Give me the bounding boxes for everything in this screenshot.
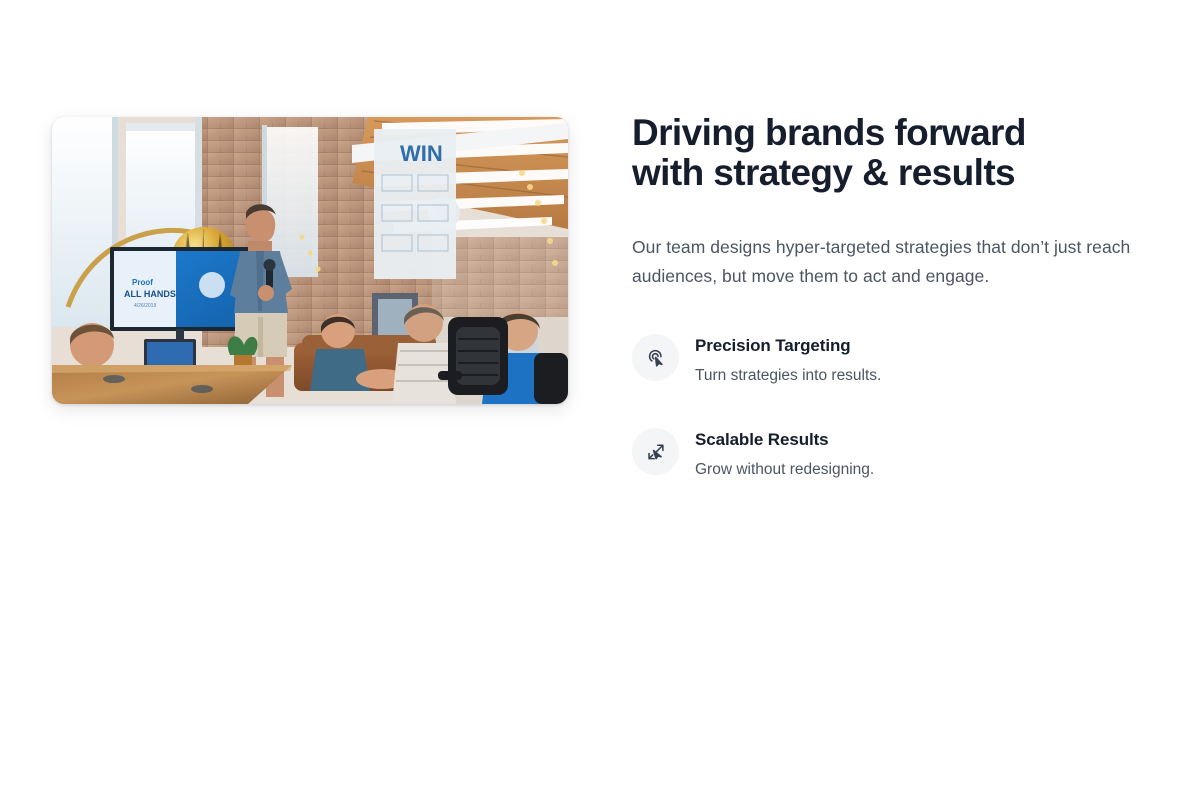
svg-text:WIN: WIN xyxy=(400,141,443,166)
media-column: WIN xyxy=(52,117,568,404)
section-subcopy: Our team designs hyper-targeted strategi… xyxy=(632,233,1148,291)
feature-description: Turn strategies into results. xyxy=(695,365,881,386)
feature-title: Scalable Results xyxy=(695,429,874,451)
svg-text:ALL HANDS: ALL HANDS xyxy=(124,289,176,299)
feature-section: WIN xyxy=(0,0,1200,800)
feature-item-precision-targeting: Precision Targeting Turn strategies into… xyxy=(632,333,1152,386)
feature-title: Precision Targeting xyxy=(695,335,881,357)
feature-description: Grow without redesigning. xyxy=(695,459,874,480)
feature-list: Precision Targeting Turn strategies into… xyxy=(632,333,1152,480)
svg-text:Proof: Proof xyxy=(132,278,153,287)
feature-body: Precision Targeting Turn strategies into… xyxy=(695,333,881,386)
headline-line-1: Driving brands forward xyxy=(632,113,1132,153)
headline-line-2: with strategy & results xyxy=(632,153,1132,193)
section-headline: Driving brands forward with strategy & r… xyxy=(632,113,1132,193)
copy-column: Driving brands forward with strategy & r… xyxy=(632,113,1152,480)
office-meeting-illustration: WIN xyxy=(52,117,568,404)
expand-arrows-cursor-icon xyxy=(632,428,679,475)
feature-item-scalable-results: Scalable Results Grow without redesignin… xyxy=(632,427,1152,480)
svg-text:4/26/2019: 4/26/2019 xyxy=(134,303,156,309)
feature-body: Scalable Results Grow without redesignin… xyxy=(695,427,874,480)
office-meeting-photo: WIN xyxy=(52,117,568,404)
cursor-click-icon xyxy=(632,334,679,381)
